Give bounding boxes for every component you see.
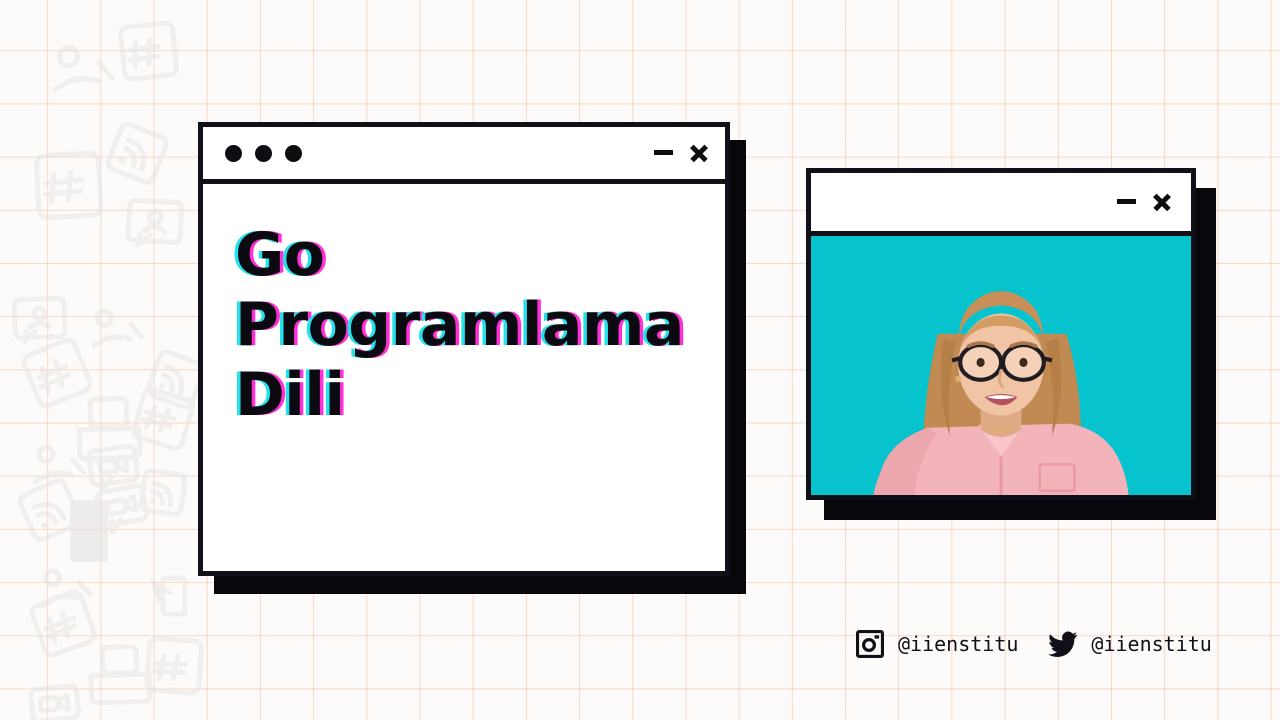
close-icon[interactable] <box>1152 193 1171 212</box>
instagram-handle-block[interactable]: @iienstitu <box>856 630 1018 658</box>
twitter-icon[interactable] <box>1048 631 1078 657</box>
slide-canvas: Go Programlama Dili <box>0 0 1280 720</box>
window-dots <box>225 145 302 162</box>
presenter-figure <box>811 236 1191 495</box>
window-dot-1 <box>225 145 242 162</box>
video-viewport[interactable] <box>806 236 1196 500</box>
minimize-icon[interactable] <box>1117 199 1136 204</box>
title-window-controls[interactable] <box>654 144 708 163</box>
page-title-text: Go Programlama Dili <box>235 220 684 430</box>
social-footer: @iienstitu @iienstitu <box>856 630 1212 658</box>
twitter-handle[interactable]: @iienstitu <box>1091 632 1211 656</box>
title-window-titlebar[interactable] <box>198 122 730 184</box>
instagram-icon[interactable] <box>856 630 884 658</box>
twitter-handle-block[interactable]: @iienstitu <box>1048 631 1211 657</box>
minimize-icon[interactable] <box>654 150 673 155</box>
title-window[interactable]: Go Programlama Dili <box>198 122 730 576</box>
window-dot-2 <box>255 145 272 162</box>
video-window-titlebar[interactable] <box>806 168 1196 236</box>
title-window-body: Go Programlama Dili <box>198 184 730 576</box>
page-title: Go Programlama Dili <box>235 220 655 431</box>
instagram-handle[interactable]: @iienstitu <box>898 632 1018 656</box>
window-dot-3 <box>285 145 302 162</box>
close-icon[interactable] <box>689 144 708 163</box>
video-window[interactable] <box>806 168 1196 500</box>
video-window-controls[interactable] <box>1117 193 1171 212</box>
